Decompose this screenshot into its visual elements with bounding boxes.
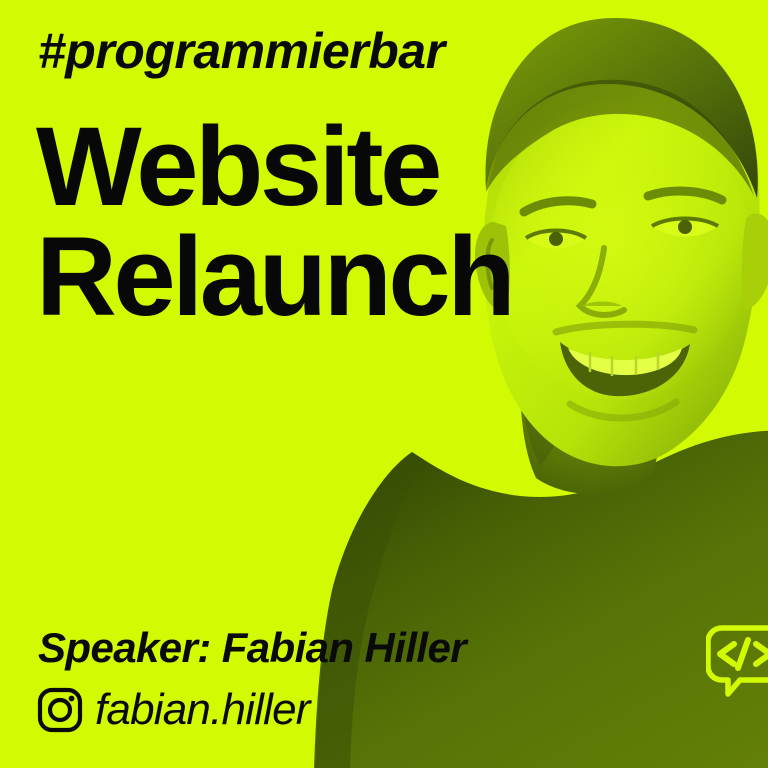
podcast-episode-poster: #programmierbar Website Relaunch Speaker… <box>0 0 768 768</box>
hashtag-label: #programmierbar <box>38 24 445 79</box>
code-speech-bubble-logo <box>706 622 768 700</box>
title-line-2: Relaunch <box>36 222 512 332</box>
instagram-handle-text: fabian.hiller <box>95 688 310 732</box>
title-line-1: Website <box>36 112 512 222</box>
speaker-label: Speaker: Fabian Hiller <box>38 624 466 672</box>
instagram-icon <box>36 686 84 734</box>
page-title: Website Relaunch <box>36 112 512 332</box>
instagram-handle-row: fabian.hiller <box>36 686 310 734</box>
